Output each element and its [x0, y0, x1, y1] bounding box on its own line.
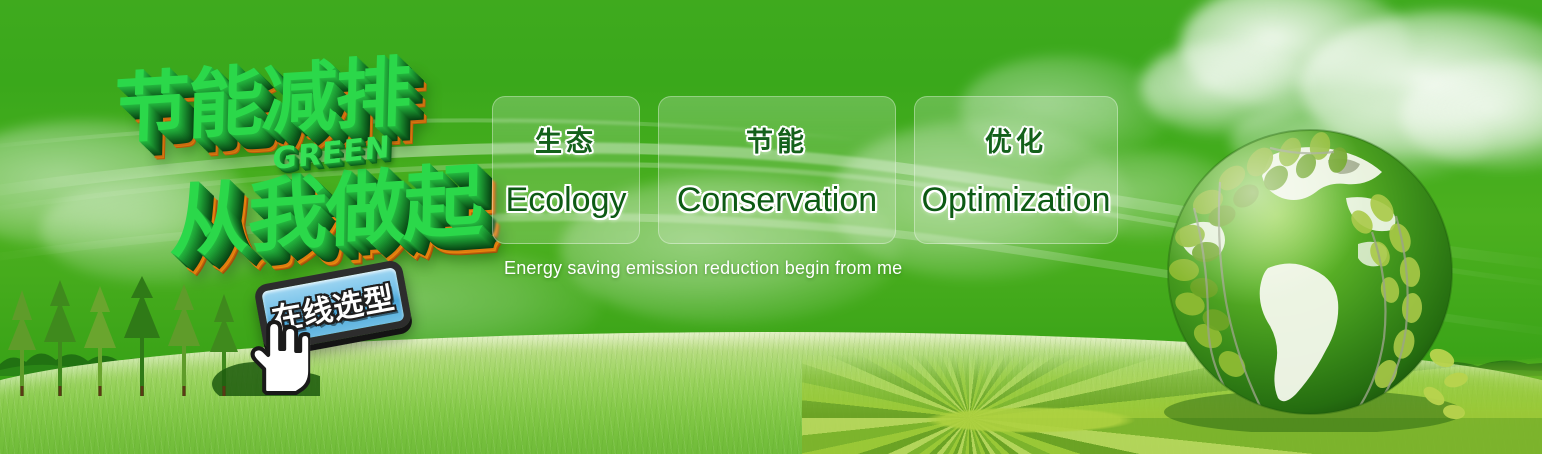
cloud-shape	[0, 120, 240, 250]
feature-card-cn-label: 生态	[535, 120, 597, 159]
online-selection-label: 在线选型	[268, 273, 398, 339]
feature-card-ecology[interactable]: 生态 Ecology	[492, 96, 640, 244]
feature-card-conservation[interactable]: 节能 Conservation	[658, 96, 896, 244]
cloud-shape	[40, 175, 300, 285]
leafy-green-globe	[1150, 112, 1470, 432]
feature-card-cn-label: 优化	[985, 120, 1047, 159]
feature-cards: 生态 Ecology 节能 Conservation 优化 Optimizati…	[492, 96, 1118, 244]
headline-line-top: 节能减排	[113, 30, 411, 158]
feature-card-en-label: Optimization	[922, 181, 1111, 220]
feature-card-optimization[interactable]: 优化 Optimization	[914, 96, 1118, 244]
headline-line-bottom: 从我做起	[169, 136, 482, 274]
eco-promo-banner: 节能减排 从我做起 GREEN 在线选型 生态 Ecology 节能 Conse…	[0, 0, 1542, 454]
headline-overlay-green: GREEN	[272, 130, 391, 178]
headline-3d: 节能减排 从我做起 GREEN	[104, 40, 484, 270]
feature-card-en-label: Ecology	[506, 181, 627, 220]
online-selection-button[interactable]: 在线选型	[253, 259, 413, 353]
banner-tagline: Energy saving emission reduction begin f…	[504, 258, 902, 279]
feature-card-en-label: Conservation	[677, 181, 877, 220]
online-selection-cta[interactable]: 在线选型	[253, 259, 413, 353]
feature-card-cn-label: 节能	[746, 120, 808, 159]
cloud-shape	[1180, 0, 1410, 110]
